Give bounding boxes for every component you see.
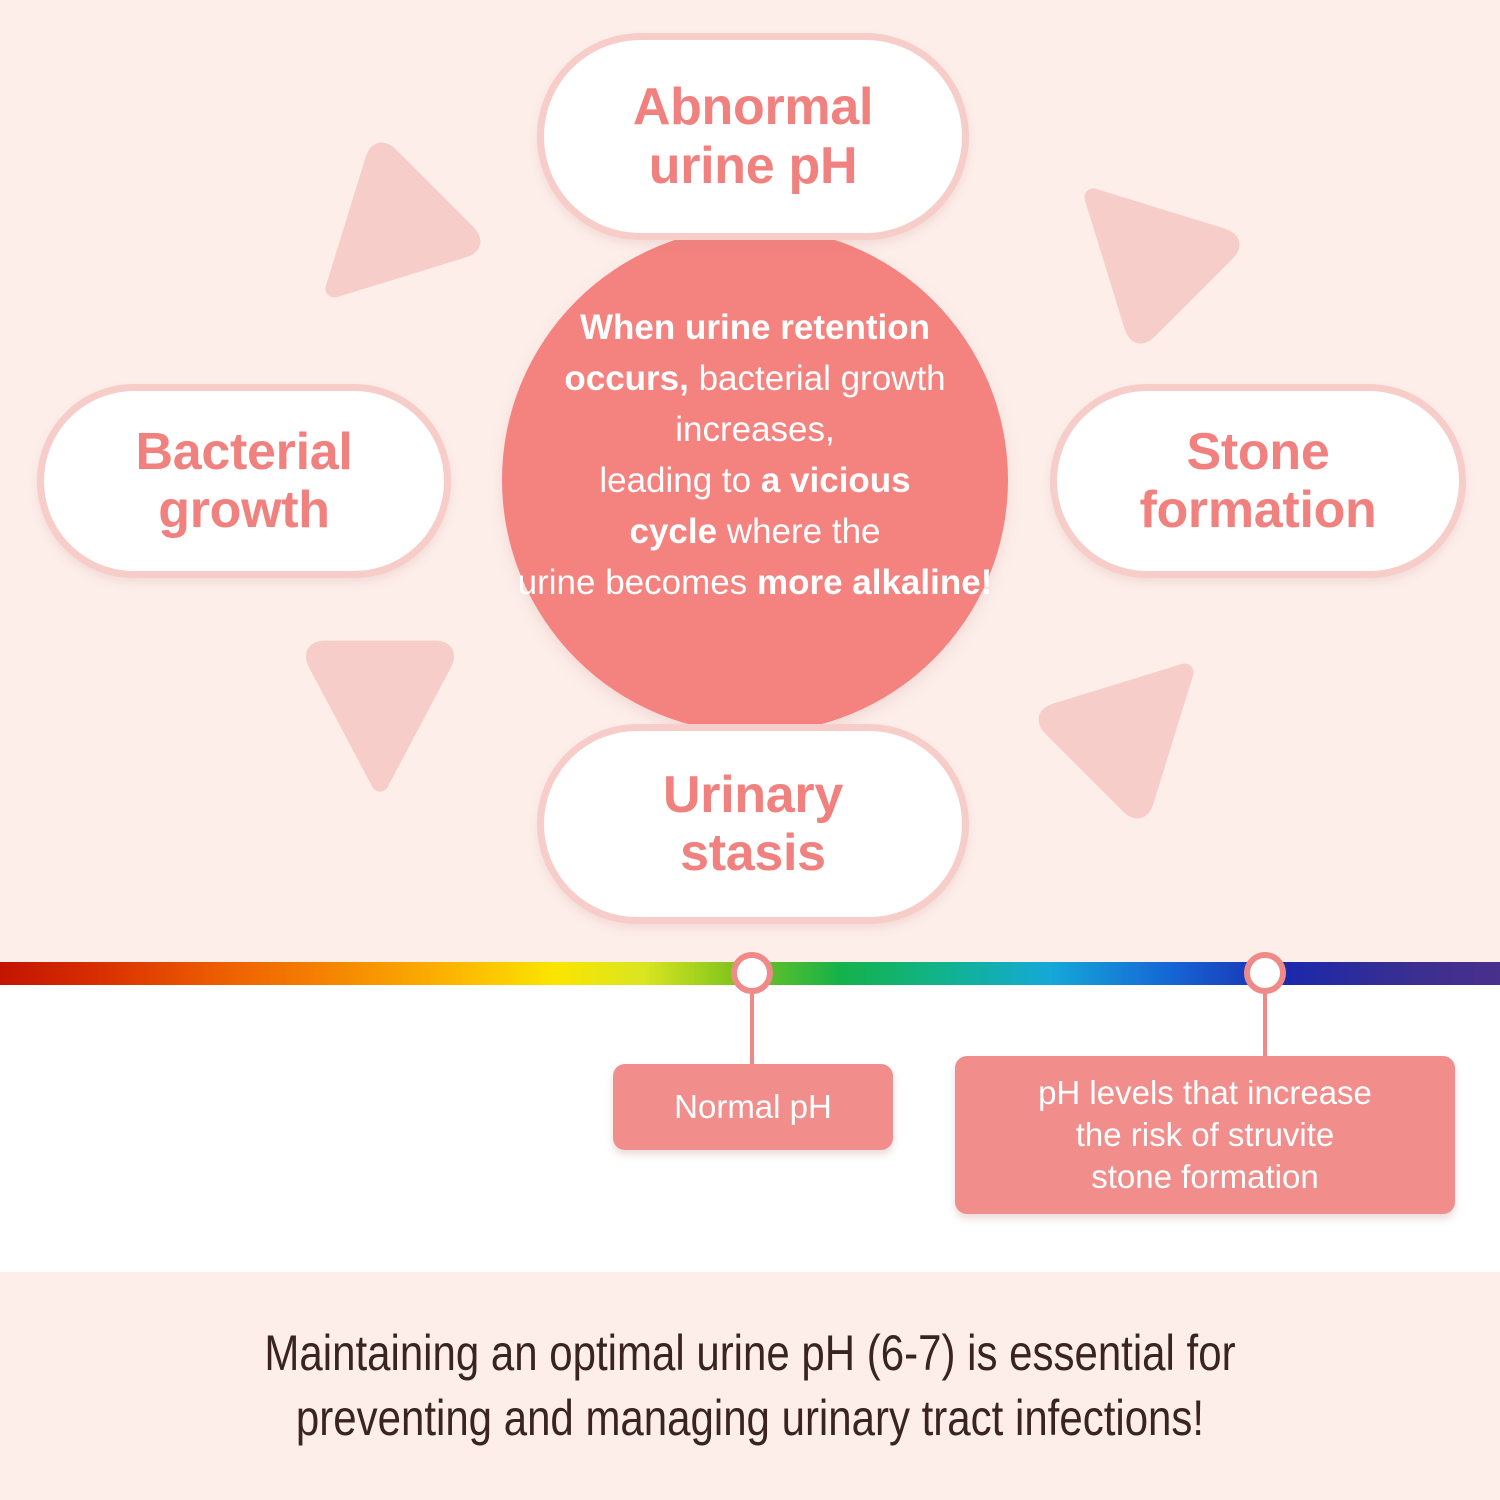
ph-marker-normal-connector <box>750 981 754 1077</box>
footer-line-2: preventing and managing urinary tract in… <box>162 1386 1338 1451</box>
center-line2-rest: bacterial growth <box>689 359 946 398</box>
ph-marker-struvite-dot[interactable] <box>1244 952 1286 994</box>
ph-callout-struvite-risk[interactable]: pH levels that increasethe risk of struv… <box>955 1056 1455 1214</box>
ph-callout-struvite-label: pH levels that increasethe risk of struv… <box>1038 1072 1372 1199</box>
footer-message: Maintaining an optimal urine pH (6-7) is… <box>162 1321 1338 1451</box>
center-line5-bold: cycle <box>629 512 717 551</box>
node-bottom-label: Urinarystasis <box>663 766 843 882</box>
infographic-page: When urine retention occurs, bacterial g… <box>0 0 1500 1500</box>
ph-marker-normal-dot[interactable] <box>731 952 773 994</box>
node-stone-formation[interactable]: Stoneformation <box>1050 384 1466 578</box>
center-line6-bold: more alkaline! <box>757 563 992 602</box>
footer-banner: Maintaining an optimal urine pH (6-7) is… <box>0 1272 1500 1500</box>
ph-callout-normal-label: Normal pH <box>674 1086 832 1128</box>
ph-callout-normal-ph[interactable]: Normal pH <box>613 1064 893 1150</box>
center-line4-rest: leading to <box>599 461 761 500</box>
center-line4-bold: a vicious <box>761 461 911 500</box>
center-line2-bold: occurs, <box>564 359 689 398</box>
center-line3: increases, <box>675 410 835 449</box>
arrow-bottom-left-icon <box>315 649 445 782</box>
arrow-top-right-icon <box>1047 151 1233 337</box>
node-abnormal-urine-ph[interactable]: Abnormalurine pH <box>537 33 969 240</box>
footer-line-1: Maintaining an optimal urine pH (6-7) is… <box>162 1321 1338 1386</box>
node-urinary-stasis[interactable]: Urinarystasis <box>537 724 969 924</box>
node-left-label: Bacterialgrowth <box>136 423 353 539</box>
node-top-label: Abnormalurine pH <box>633 78 873 194</box>
arrow-bottom-right-icon <box>1044 626 1230 812</box>
center-line5-rest: where the <box>717 512 880 551</box>
node-bacterial-growth[interactable]: Bacterialgrowth <box>37 384 451 578</box>
center-line6-rest: urine becomes <box>518 563 757 602</box>
center-line1: When urine retention <box>580 308 930 347</box>
cycle-center-paragraph: When urine retention occurs, bacterial g… <box>440 302 1070 609</box>
node-right-label: Stoneformation <box>1139 423 1376 539</box>
vicious-cycle-diagram: When urine retention occurs, bacterial g… <box>0 0 1500 962</box>
